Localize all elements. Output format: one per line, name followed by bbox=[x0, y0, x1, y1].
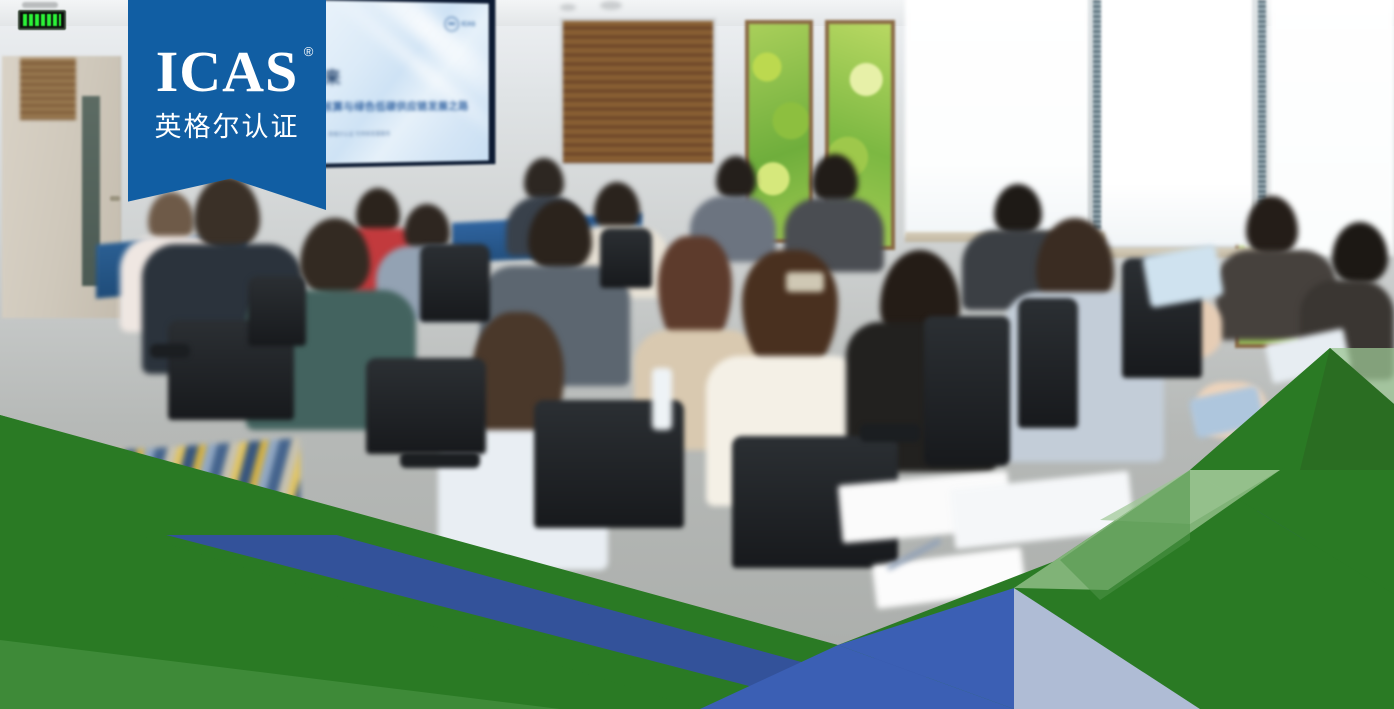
chair bbox=[600, 228, 652, 288]
chair bbox=[420, 244, 490, 322]
banner-canvas: ICAS 来 核算与绿色低碳供应链发展之路 英格尔认证 可持续发展服务 bbox=[0, 0, 1394, 709]
carpet-pattern bbox=[0, 438, 300, 709]
brand-logo-content: ICAS ® 英格尔认证 bbox=[128, 0, 326, 210]
ceiling-light-icon bbox=[560, 4, 576, 11]
water-bottle bbox=[652, 368, 672, 430]
attendee-head bbox=[716, 156, 756, 200]
window-blinds bbox=[560, 18, 716, 166]
window-blind-edge bbox=[1093, 0, 1101, 230]
brand-chinese-name: 英格尔认证 bbox=[155, 105, 300, 144]
window-pane bbox=[1100, 0, 1255, 246]
slide-title: 来 bbox=[324, 64, 342, 88]
window-blinds-small bbox=[20, 58, 76, 120]
hair-clip bbox=[786, 272, 824, 292]
door-handle bbox=[110, 196, 120, 201]
exit-sign-mount bbox=[22, 2, 58, 8]
chair-arm bbox=[860, 424, 920, 442]
chair bbox=[924, 316, 1010, 466]
chair bbox=[366, 358, 486, 454]
slide-subtitle: 核算与绿色低碳供应链发展之路 bbox=[322, 98, 469, 114]
chair bbox=[248, 276, 306, 346]
brand-logo-box: ICAS ® 英格尔认证 bbox=[128, 0, 326, 210]
slide-footnote: 英格尔认证 可持续发展服务 bbox=[328, 130, 390, 139]
chair-arm bbox=[150, 344, 190, 358]
brand-name-text: ICAS bbox=[156, 39, 299, 104]
registered-trademark-icon: ® bbox=[304, 46, 315, 58]
screen-logo-text: ICAS bbox=[462, 21, 476, 27]
ceiling-light-icon bbox=[600, 1, 622, 10]
screen-logo-ring-icon bbox=[444, 17, 459, 32]
chair-arm bbox=[400, 452, 480, 468]
brand-wordmark: ICAS ® bbox=[156, 44, 299, 99]
projector-screen: ICAS 来 核算与绿色低碳供应链发展之路 英格尔认证 可持续发展服务 bbox=[322, 0, 489, 163]
exit-sign-icon bbox=[18, 10, 66, 30]
chair bbox=[1018, 298, 1078, 428]
screen-logo: ICAS bbox=[444, 17, 475, 32]
